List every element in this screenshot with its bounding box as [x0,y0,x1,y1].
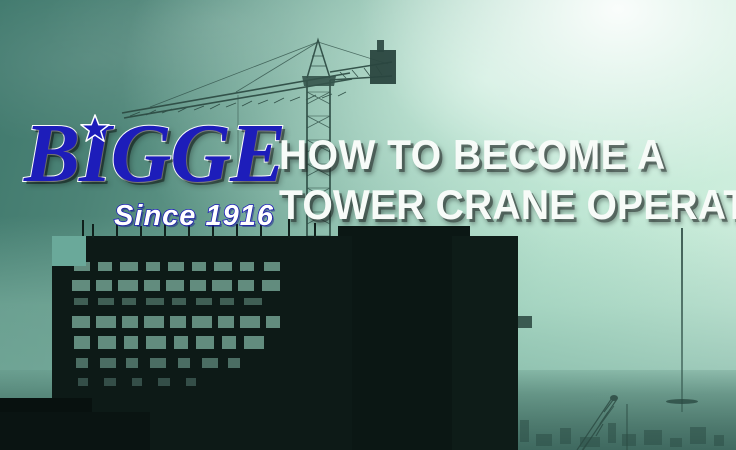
headline: HOW TO BECOME A TOWER CRANE OPERATOR [279,134,731,225]
building-right-wing [452,236,518,450]
antenna-mast [681,228,683,412]
antenna-disc [666,399,698,404]
bigge-wordmark: BIGGE [24,112,276,196]
foreground-roof-lower [0,412,150,450]
bigge-promo-banner: BIGGE Since 1916 HOW TO BECOME A TOWER C… [0,0,736,450]
star-icon [80,114,110,144]
headline-line-1: HOW TO BECOME A [279,134,699,175]
building-left-notch [52,236,86,266]
headline-line-2: TOWER CRANE OPERATOR [279,184,699,225]
building-core [338,226,470,450]
bigge-logo[interactable]: BIGGE Since 1916 [24,112,276,240]
brand-tagline: Since 1916 [114,200,274,233]
